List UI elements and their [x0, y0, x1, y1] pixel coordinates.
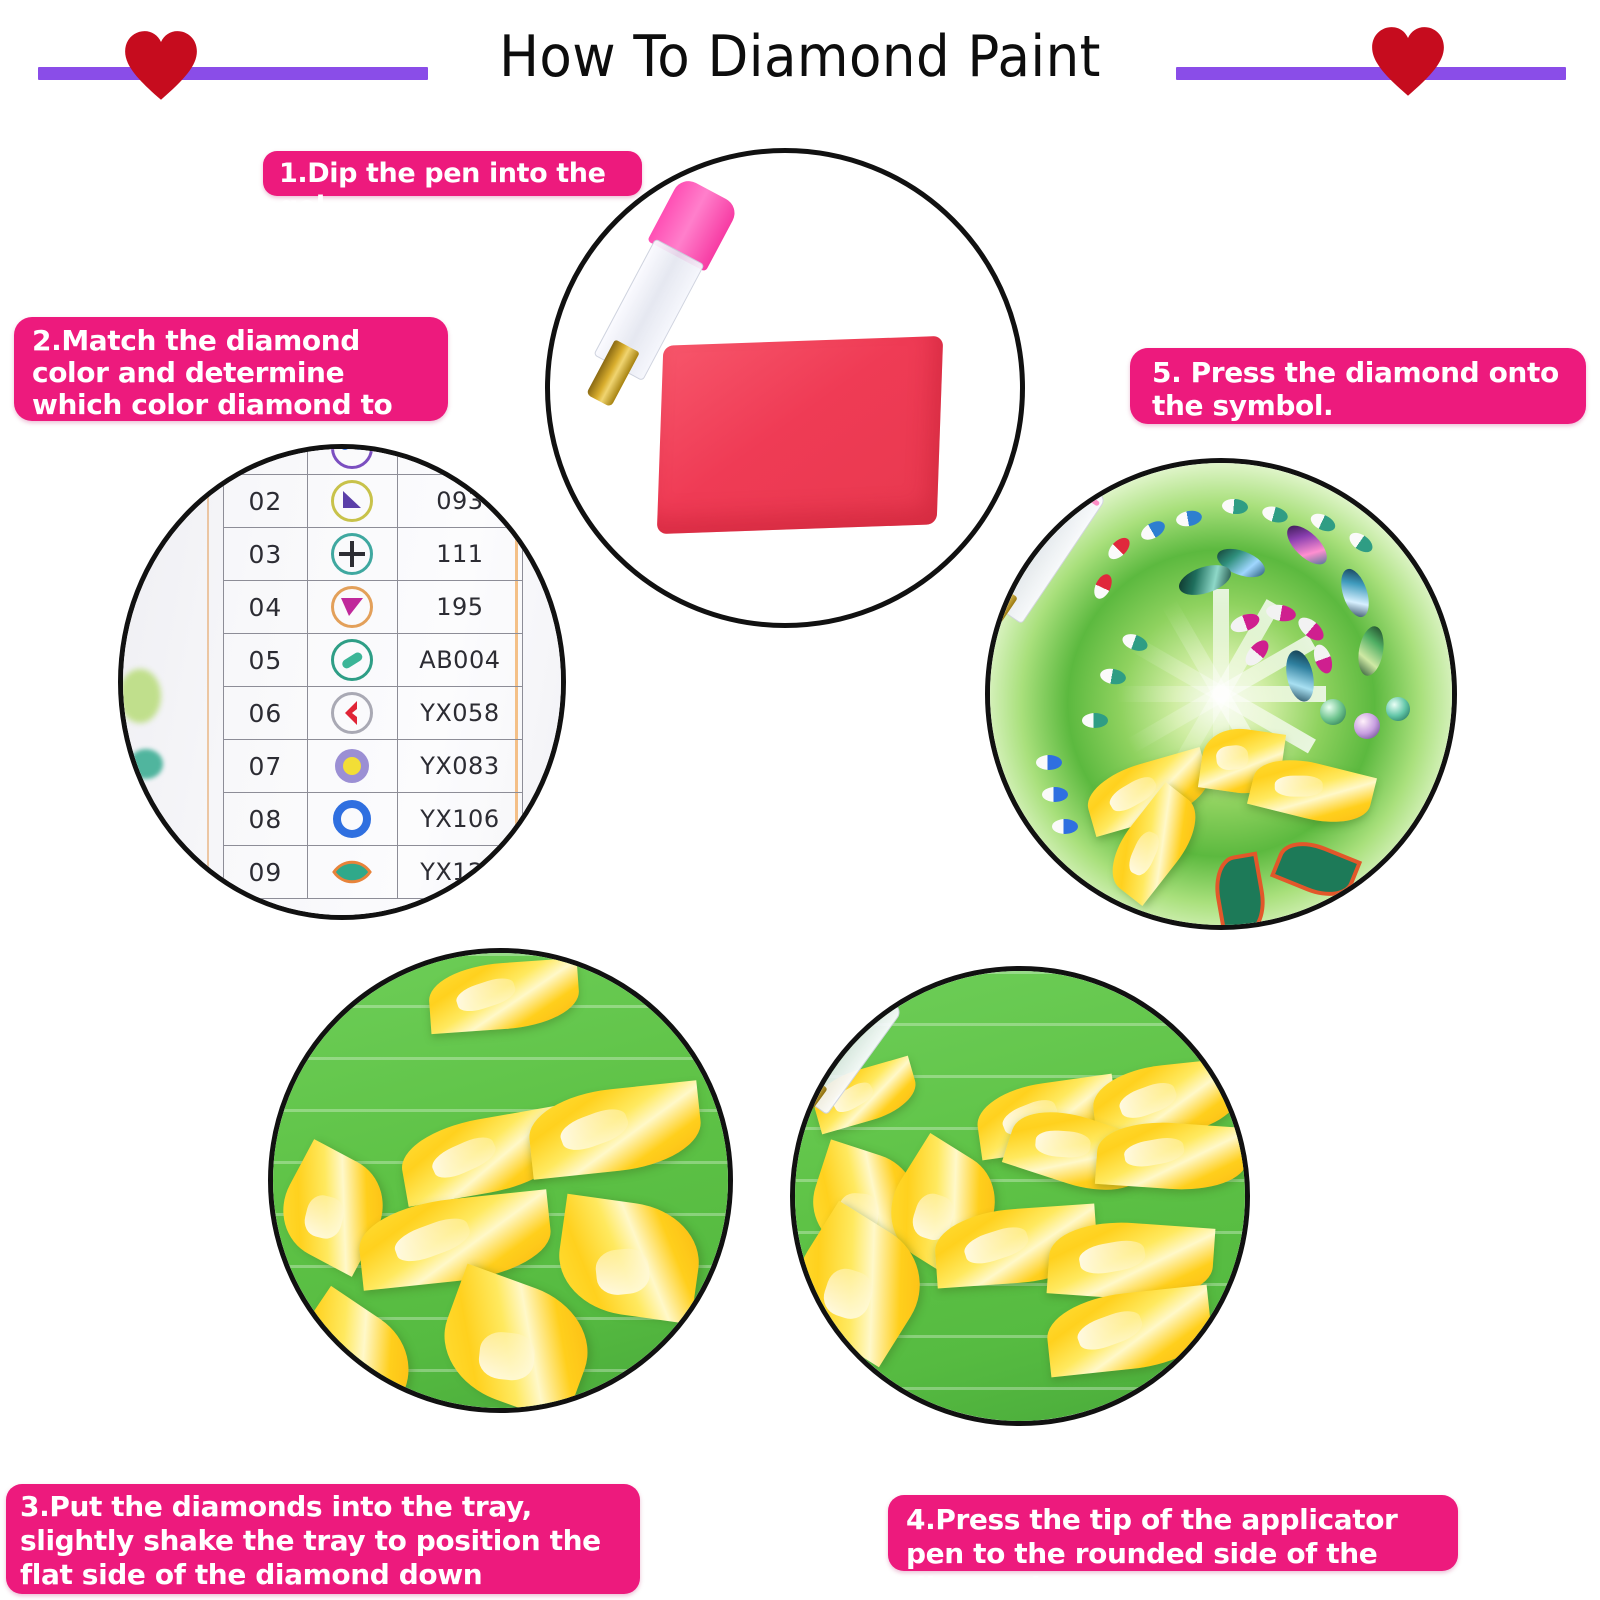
yellow-diamond	[525, 1080, 705, 1180]
table-row: 03 111	[224, 528, 523, 581]
color-chart-table: 01 028 02	[223, 444, 523, 899]
step-2-text: 2.Match the diamond color and determine …	[32, 325, 432, 453]
yellow-diamond	[427, 958, 581, 1034]
table-row: 04 195	[224, 581, 523, 634]
row-code: 028	[397, 444, 522, 475]
step-5-text: 5. Press the diamond onto the symbol.	[1152, 356, 1570, 422]
triangle-left-circle-icon	[331, 480, 373, 522]
leaf-circle-icon	[331, 851, 373, 893]
row-code: YX106	[397, 793, 522, 846]
row-index: 05	[224, 634, 308, 687]
row-code: AB004	[397, 634, 522, 687]
row-symbol	[307, 740, 397, 793]
photo-color-chart: 01 028 02	[118, 444, 566, 920]
row-index: 03	[224, 528, 308, 581]
table-row: 01 028	[224, 444, 523, 475]
mandala-canvas	[990, 463, 1452, 925]
yellow-diamond	[270, 1286, 431, 1413]
plastic-tray	[795, 971, 1245, 1421]
step-4-caption: 4.Press the tip of the applicator pen to…	[888, 1495, 1458, 1571]
step-1-text: 1.Dip the pen into the gel	[279, 157, 626, 223]
table-row: 06 YX058	[224, 687, 523, 740]
donut-circle-icon	[331, 798, 373, 840]
row-index: 04	[224, 581, 308, 634]
row-symbol	[307, 475, 397, 528]
plus-circle-icon	[331, 533, 373, 575]
row-symbol	[307, 528, 397, 581]
step-4-text: 4.Press the tip of the applicator pen to…	[906, 1503, 1444, 1600]
step-5-caption: 5. Press the diamond onto the symbol.	[1130, 348, 1586, 424]
row-index: 06	[224, 687, 308, 740]
table-row: 05 AB004	[224, 634, 523, 687]
capsule-circle-icon	[331, 639, 373, 681]
row-symbol	[307, 687, 397, 740]
photo-pen-to-rounded-side	[790, 966, 1250, 1426]
table-row: 09 YX125	[224, 846, 523, 899]
chevron-left-circle-icon	[331, 692, 373, 734]
row-code: 111	[397, 528, 522, 581]
row-symbol	[307, 444, 397, 475]
yellow-diamond	[1043, 1285, 1214, 1378]
page-title: How To Diamond Paint	[56, 26, 1544, 88]
yellow-diamond	[1095, 1118, 1249, 1194]
row-code: 195	[397, 581, 522, 634]
canvas-printed-blob	[129, 749, 163, 779]
row-symbol	[307, 581, 397, 634]
row-index: 08	[224, 793, 308, 846]
table-row: 02 093	[224, 475, 523, 528]
row-code: 093	[397, 475, 522, 528]
canvas-printed-blob	[119, 669, 161, 723]
table-row: 08 YX106	[224, 793, 523, 846]
plastic-tray	[273, 953, 728, 1408]
row-index: 01	[224, 444, 308, 475]
row-code: YX125	[397, 846, 522, 899]
row-symbol	[307, 634, 397, 687]
double-dot-circle-icon	[331, 444, 373, 469]
row-code: YX058	[397, 687, 522, 740]
photo-diamonds-in-tray	[268, 948, 733, 1413]
row-index: 02	[224, 475, 308, 528]
row-index: 07	[224, 740, 308, 793]
table-row: 07 YX083	[224, 740, 523, 793]
photo-dip-pen-in-gel	[545, 148, 1025, 628]
step-3-caption: 3.Put the diamonds into the tray, slight…	[6, 1484, 640, 1594]
gel-pad	[657, 336, 943, 534]
step-1-caption: 1.Dip the pen into the gel	[263, 151, 642, 196]
step-2-caption: 2.Match the diamond color and determine …	[14, 317, 448, 421]
row-index: 09	[224, 846, 308, 899]
chart-margin-line-left	[207, 449, 209, 915]
triangle-magenta-circle-icon	[331, 586, 373, 628]
dot-in-ring-circle-icon	[331, 745, 373, 787]
step-3-text: 3.Put the diamonds into the tray, slight…	[20, 1490, 626, 1592]
chart-paper: 01 028 02	[123, 449, 561, 915]
infographic-root: How To Diamond Paint 1.Dip the pen into …	[0, 0, 1600, 1600]
photo-press-onto-symbol	[985, 458, 1457, 930]
row-code: YX083	[397, 740, 522, 793]
row-symbol	[307, 846, 397, 899]
row-symbol	[307, 793, 397, 846]
